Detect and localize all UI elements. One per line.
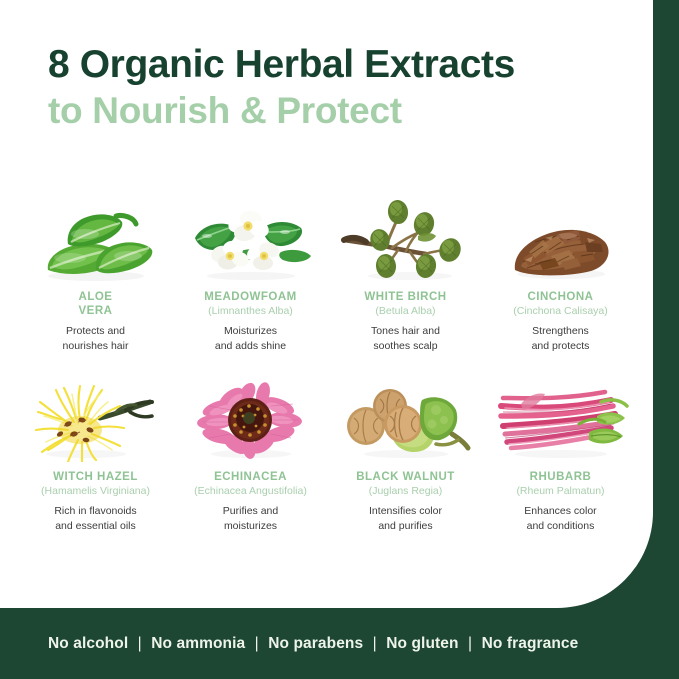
ingredient-name: WHITE BIRCH bbox=[364, 290, 446, 304]
ingredient-card-witch-hazel: WITCH HAZEL (Hamamelis Virginiana) Rich … bbox=[18, 370, 173, 534]
ingredient-latin-name: (Betula Alba) bbox=[364, 305, 446, 319]
desc-line-1: Protects and bbox=[63, 324, 129, 339]
desc-line-2: and adds shine bbox=[215, 339, 286, 354]
ingredient-names: RHUBARB (Rheum Palmatun) bbox=[516, 470, 604, 499]
desc-line-1: Moisturizes bbox=[215, 324, 286, 339]
ingredient-latin-name: (Rheum Palmatun) bbox=[516, 485, 604, 499]
ingredient-card-black-walnut: BLACK WALNUT (Juglans Regia) Intensifies… bbox=[328, 370, 483, 534]
desc-line-1: Intensifies color bbox=[369, 504, 442, 519]
ingredient-description: Enhances color and conditions bbox=[524, 504, 596, 534]
ingredient-name-line2: VERA bbox=[79, 304, 113, 318]
echinacea-flower-icon bbox=[181, 370, 321, 462]
desc-line-1: Rich in flavonoids bbox=[54, 504, 136, 519]
desc-line-2: and essential oils bbox=[54, 519, 136, 534]
page-subtitle: to Nourish & Protect bbox=[48, 90, 628, 131]
desc-line-1: Purifies and bbox=[223, 504, 278, 519]
ingredient-names: WITCH HAZEL (Hamamelis Virginiana) bbox=[41, 470, 150, 499]
desc-line-2: moisturizes bbox=[223, 519, 278, 534]
ingredient-names: WHITE BIRCH (Betula Alba) bbox=[364, 290, 446, 319]
footer-claims-bar: No alcohol | No ammonia | No parabens | … bbox=[0, 608, 679, 679]
desc-line-2: soothes scalp bbox=[371, 339, 440, 354]
ingredient-names: ALOE VERA bbox=[79, 290, 113, 319]
claim-separator: | bbox=[463, 635, 477, 652]
ingredient-names: MEADOWFOAM (Limnanthes Alba) bbox=[204, 290, 297, 319]
ingredient-card-cinchona: CINCHONA (Cinchona Calisaya) Strengthens… bbox=[483, 190, 638, 354]
ingredient-names: BLACK WALNUT (Juglans Regia) bbox=[356, 470, 455, 499]
ingredient-latin-name: (Cinchona Calisaya) bbox=[513, 305, 608, 319]
ingredient-names: CINCHONA (Cinchona Calisaya) bbox=[513, 290, 608, 319]
ingredient-description: Moisturizes and adds shine bbox=[215, 324, 286, 354]
ingredient-name: CINCHONA bbox=[513, 290, 608, 304]
ingredient-description: Protects and nourishes hair bbox=[63, 324, 129, 354]
ingredient-description: Tones hair and soothes scalp bbox=[371, 324, 440, 354]
ingredient-latin-name: (Limnanthes Alba) bbox=[204, 305, 297, 319]
meadowfoam-flower-icon bbox=[181, 190, 321, 282]
desc-line-2: and purifies bbox=[369, 519, 442, 534]
desc-line-1: Tones hair and bbox=[371, 324, 440, 339]
ingredient-name: MEADOWFOAM bbox=[204, 290, 297, 304]
claim-no-ammonia: No ammonia bbox=[151, 635, 245, 652]
ingredient-card-white-birch: WHITE BIRCH (Betula Alba) Tones hair and… bbox=[328, 190, 483, 354]
ingredient-latin-name: (Echinacea Angustifolia) bbox=[194, 485, 307, 499]
desc-line-2: nourishes hair bbox=[63, 339, 129, 354]
ingredient-description: Intensifies color and purifies bbox=[369, 504, 442, 534]
claim-no-alcohol: No alcohol bbox=[48, 635, 128, 652]
ingredient-name: WITCH HAZEL bbox=[41, 470, 150, 484]
ingredient-latin-name: (Hamamelis Virginiana) bbox=[41, 485, 150, 499]
ingredient-names: ECHINACEA (Echinacea Angustifolia) bbox=[194, 470, 307, 499]
claim-no-parabens: No parabens bbox=[268, 635, 363, 652]
ingredient-row-1: ALOE VERA Protects and nourishes hair bbox=[18, 190, 638, 354]
claim-no-fragrance: No fragrance bbox=[482, 635, 579, 652]
desc-line-2: and conditions bbox=[524, 519, 596, 534]
aloe-vera-icon bbox=[26, 190, 166, 282]
ingredient-name: ALOE bbox=[79, 290, 113, 304]
ingredient-description: Rich in flavonoids and essential oils bbox=[54, 504, 136, 534]
claim-no-gluten: No gluten bbox=[386, 635, 458, 652]
ingredient-name: RHUBARB bbox=[516, 470, 604, 484]
white-birch-branch-icon bbox=[336, 190, 476, 282]
ingredient-grid: ALOE VERA Protects and nourishes hair bbox=[18, 190, 638, 534]
black-walnut-icon bbox=[336, 370, 476, 462]
ingredient-latin-name: (Juglans Regia) bbox=[356, 485, 455, 499]
claim-separator: | bbox=[368, 635, 382, 652]
title-block: 8 Organic Herbal Extracts to Nourish & P… bbox=[48, 44, 628, 132]
cinchona-bark-icon bbox=[491, 190, 631, 282]
page-title: 8 Organic Herbal Extracts bbox=[48, 44, 628, 86]
rhubarb-stalks-icon bbox=[491, 370, 631, 462]
desc-line-1: Enhances color bbox=[524, 504, 596, 519]
ingredient-description: Purifies and moisturizes bbox=[223, 504, 278, 534]
claim-separator: | bbox=[250, 635, 264, 652]
ingredient-card-echinacea: ECHINACEA (Echinacea Angustifolia) Purif… bbox=[173, 370, 328, 534]
ingredient-row-2: WITCH HAZEL (Hamamelis Virginiana) Rich … bbox=[18, 370, 638, 534]
ingredient-description: Strengthens and protects bbox=[532, 324, 590, 354]
claim-separator: | bbox=[133, 635, 147, 652]
desc-line-2: and protects bbox=[532, 339, 590, 354]
witch-hazel-flower-icon bbox=[26, 370, 166, 462]
ingredient-name: ECHINACEA bbox=[194, 470, 307, 484]
ingredient-card-rhubarb: RHUBARB (Rheum Palmatun) Enhances color … bbox=[483, 370, 638, 534]
ingredient-card-meadowfoam: MEADOWFOAM (Limnanthes Alba) Moisturizes… bbox=[173, 190, 328, 354]
desc-line-1: Strengthens bbox=[532, 324, 590, 339]
ingredient-card-aloe-vera: ALOE VERA Protects and nourishes hair bbox=[18, 190, 173, 354]
ingredient-name: BLACK WALNUT bbox=[356, 470, 455, 484]
poster-root: 8 Organic Herbal Extracts to Nourish & P… bbox=[0, 0, 679, 679]
footer-claims-text: No alcohol | No ammonia | No parabens | … bbox=[48, 635, 578, 653]
